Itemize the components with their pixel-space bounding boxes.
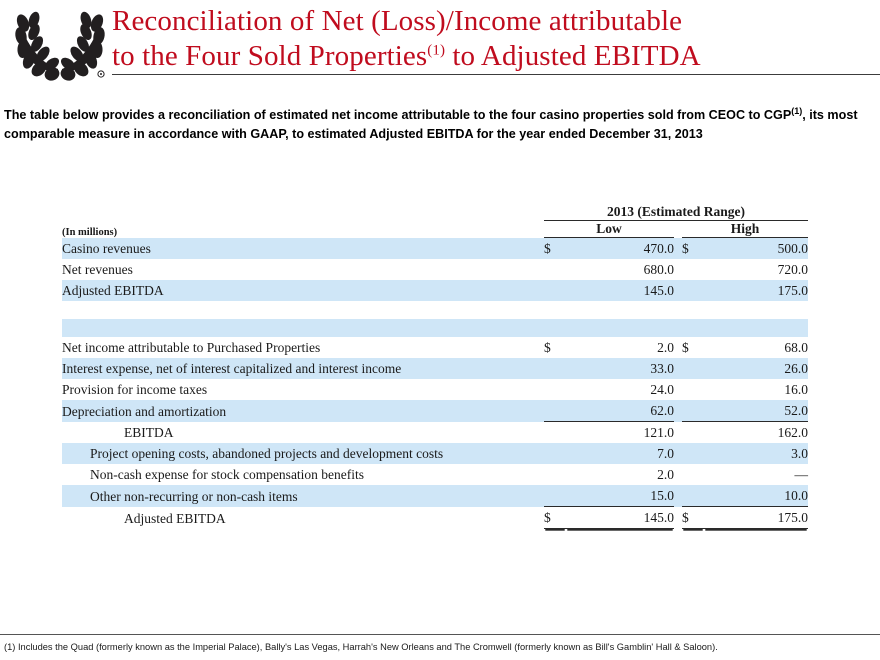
high-currency-symbol — [682, 485, 704, 507]
low-currency-symbol — [544, 259, 566, 280]
low-value: 145.0 — [566, 507, 674, 529]
table-row: Adjusted EBITDA$145.0$175.0 — [62, 507, 808, 529]
column-gap — [674, 400, 682, 422]
high-value: 10.0 — [704, 485, 808, 507]
high-currency-symbol: $ — [682, 238, 704, 260]
table-row: Non-cash expense for stock compensation … — [62, 464, 808, 485]
low-currency-symbol — [544, 485, 566, 507]
row-label: Net income attributable to Purchased Pro… — [62, 337, 544, 358]
row-label: Project opening costs, abandoned project… — [62, 443, 544, 464]
table-row: Net income attributable to Purchased Pro… — [62, 337, 808, 358]
high-value: 175.0 — [704, 280, 808, 301]
high-currency-symbol — [682, 358, 704, 379]
row-label: Net revenues — [62, 259, 544, 280]
intro-footnote-marker: (1) — [791, 106, 802, 116]
intro-text-part1: The table below provides a reconciliatio… — [4, 108, 791, 122]
high-currency-symbol — [682, 422, 704, 444]
column-gap — [674, 280, 682, 301]
header-row-columns: (In millions) Low High — [62, 221, 808, 238]
header-spacer-label — [62, 204, 544, 221]
high-currency-symbol — [682, 379, 704, 400]
low-currency-symbol — [544, 464, 566, 485]
low-currency-symbol: $ — [544, 507, 566, 529]
row-label: EBITDA — [62, 422, 544, 444]
column-group-header: 2013 (Estimated Range) — [544, 204, 808, 221]
high-value: 52.0 — [704, 400, 808, 422]
low-currency-symbol — [544, 422, 566, 444]
title-divider — [112, 74, 880, 75]
high-currency-symbol — [682, 259, 704, 280]
column-gap — [674, 379, 682, 400]
high-value: 175.0 — [704, 507, 808, 529]
footnote-text: (1) Includes the Quad (formerly known as… — [4, 641, 876, 654]
low-value: 15.0 — [566, 485, 674, 507]
column-header-high: High — [682, 221, 808, 238]
high-value: 68.0 — [704, 337, 808, 358]
intro-paragraph: The table below provides a reconciliatio… — [4, 106, 876, 143]
row-label: Casino revenues — [62, 238, 544, 260]
high-currency-symbol — [682, 400, 704, 422]
title-line-2-text: to the Four Sold Properties — [112, 40, 427, 72]
slide-root: Reconciliation of Net (Loss)/Income attr… — [0, 0, 880, 660]
footnote-divider — [0, 634, 880, 635]
high-value: 3.0 — [704, 443, 808, 464]
low-value: 24.0 — [566, 379, 674, 400]
low-value: 680.0 — [566, 259, 674, 280]
low-value: 470.0 — [566, 238, 674, 260]
table-row: Other non-recurring or non-cash items15.… — [62, 485, 808, 507]
low-currency-symbol — [544, 379, 566, 400]
high-value: 720.0 — [704, 259, 808, 280]
high-currency-symbol — [682, 464, 704, 485]
low-currency-symbol: $ — [544, 337, 566, 358]
table-row: Adjusted EBITDA145.0175.0 — [62, 280, 808, 301]
row-label: Non-cash expense for stock compensation … — [62, 464, 544, 485]
column-gap — [674, 238, 682, 260]
high-value: 162.0 — [704, 422, 808, 444]
table-row: Casino revenues$470.0$500.0 — [62, 238, 808, 260]
table-row: Provision for income taxes24.016.0 — [62, 379, 808, 400]
column-header-low: Low — [544, 221, 674, 238]
low-currency-symbol — [544, 280, 566, 301]
table-row: Net revenues680.0720.0 — [62, 259, 808, 280]
header-gap — [674, 221, 682, 238]
high-value: 500.0 — [704, 238, 808, 260]
high-value: 16.0 — [704, 379, 808, 400]
low-value: 62.0 — [566, 400, 674, 422]
row-label: Depreciation and amortization — [62, 400, 544, 422]
table-body: Casino revenues$470.0$500.0Net revenues6… — [62, 238, 808, 529]
title-line-2: to the Four Sold Properties(1) to Adjust… — [112, 39, 880, 74]
column-gap — [674, 485, 682, 507]
row-label: Adjusted EBITDA — [62, 507, 544, 529]
high-value: 26.0 — [704, 358, 808, 379]
reconciliation-table: 2013 (Estimated Range) (In millions) Low… — [62, 204, 808, 529]
row-label: Other non-recurring or non-cash items — [62, 485, 544, 507]
low-value: 7.0 — [566, 443, 674, 464]
title-line-1: Reconciliation of Net (Loss)/Income attr… — [112, 0, 880, 39]
table-row: EBITDA121.0162.0 — [62, 422, 808, 444]
column-gap — [674, 337, 682, 358]
row-label: Interest expense, net of interest capita… — [62, 358, 544, 379]
column-gap — [674, 358, 682, 379]
slide-title: Reconciliation of Net (Loss)/Income attr… — [112, 0, 880, 74]
low-currency-symbol — [544, 358, 566, 379]
laurel-wreath-logo — [8, 6, 112, 82]
low-value: 2.0 — [566, 464, 674, 485]
low-value: 145.0 — [566, 280, 674, 301]
row-label: Adjusted EBITDA — [62, 280, 544, 301]
table-row: Depreciation and amortization62.052.0 — [62, 400, 808, 422]
column-gap — [674, 507, 682, 529]
column-gap — [674, 422, 682, 444]
column-gap — [674, 259, 682, 280]
table-row: Interest expense, net of interest capita… — [62, 358, 808, 379]
column-gap — [674, 464, 682, 485]
high-currency-symbol: $ — [682, 337, 704, 358]
reconciliation-table-wrap: 2013 (Estimated Range) (In millions) Low… — [62, 204, 808, 529]
high-currency-symbol: $ — [682, 507, 704, 529]
row-label: Provision for income taxes — [62, 379, 544, 400]
low-value: 33.0 — [566, 358, 674, 379]
column-gap — [674, 443, 682, 464]
low-currency-symbol — [544, 443, 566, 464]
high-value: — — [704, 464, 808, 485]
low-value: 2.0 — [566, 337, 674, 358]
table-band-spacer-row — [62, 319, 808, 337]
low-value: 121.0 — [566, 422, 674, 444]
table-head: 2013 (Estimated Range) (In millions) Low… — [62, 204, 808, 238]
title-line-2-text-tail: to Adjusted EBITDA — [445, 40, 701, 72]
low-currency-symbol — [544, 400, 566, 422]
low-currency-symbol: $ — [544, 238, 566, 260]
header-row-group: 2013 (Estimated Range) — [62, 204, 808, 221]
high-currency-symbol — [682, 443, 704, 464]
title-footnote-marker: (1) — [427, 42, 445, 58]
units-label: (In millions) — [62, 221, 544, 238]
high-currency-symbol — [682, 280, 704, 301]
table-spacer-row — [62, 301, 808, 319]
table-row: Project opening costs, abandoned project… — [62, 443, 808, 464]
